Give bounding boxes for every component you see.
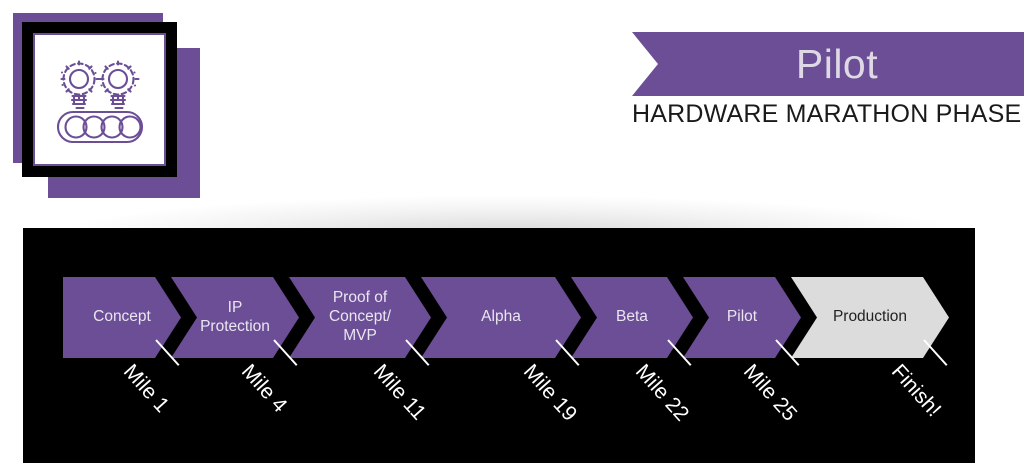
- process-stage-label: Beta: [610, 308, 654, 327]
- milestone-label: Mile 25: [738, 360, 801, 426]
- process-stage-7[interactable]: Production: [791, 277, 949, 358]
- page-title: Pilot: [778, 41, 878, 88]
- icon-badge: [0, 0, 220, 215]
- milestone-label: Mile 19: [518, 360, 581, 426]
- chevron-strip: ConceptIP ProtectionProof of Concept/ MV…: [63, 277, 939, 358]
- process-stage-label: Proof of Concept/ MVP: [323, 289, 397, 346]
- process-panel: ConceptIP ProtectionProof of Concept/ MV…: [23, 228, 975, 463]
- milestone-label: Mile 22: [630, 360, 693, 426]
- badge-inner-panel: [33, 33, 166, 166]
- milestone-label: Mile 4: [236, 360, 291, 418]
- milestone-label: Mile 11: [368, 360, 430, 425]
- process-stage-4[interactable]: Alpha: [421, 277, 581, 358]
- gears-lightbulbs-conveyor-icon: [48, 48, 152, 152]
- process-stage-label: Concept: [87, 308, 157, 327]
- milestone-label: Finish!: [886, 360, 945, 422]
- process-stage-label: IP Protection: [194, 299, 276, 337]
- header-ribbon: Pilot: [632, 32, 1024, 96]
- page-subtitle: HARDWARE MARATHON PHASE 6: [632, 100, 1020, 129]
- process-stage-label: Production: [827, 308, 913, 327]
- process-stage-label: Pilot: [721, 308, 763, 327]
- process-stage-label: Alpha: [475, 308, 527, 327]
- milestone-label: Mile 1: [118, 360, 173, 418]
